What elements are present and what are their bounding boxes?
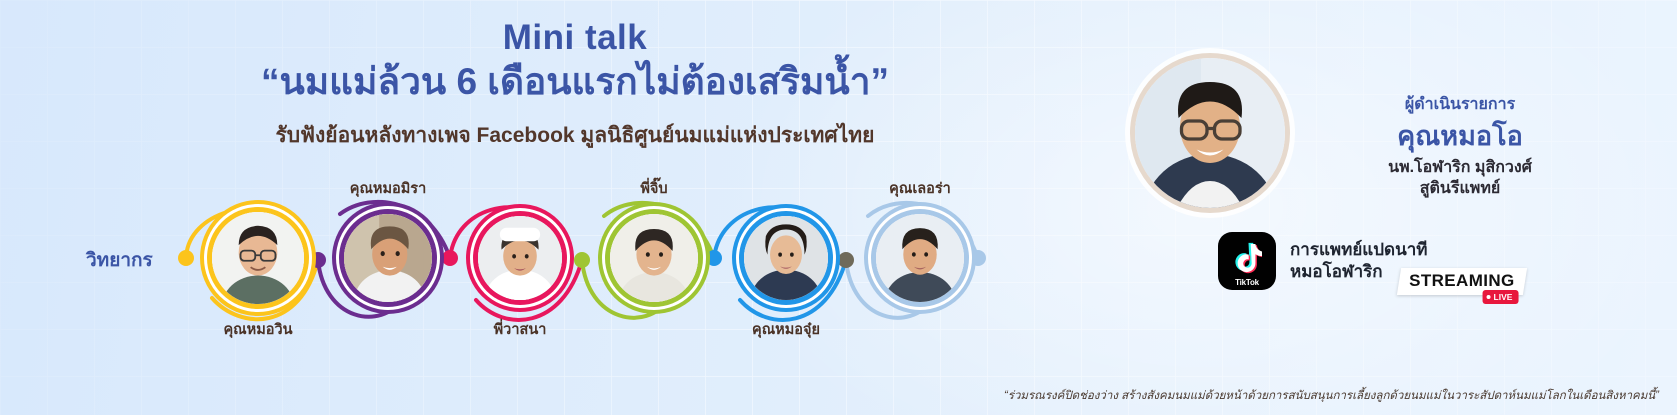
channel-block[interactable]: TikTok การแพทย์แปดนาที หมอโอฬาริก	[1218, 232, 1427, 290]
avatar-image-3	[478, 216, 562, 300]
header-eyebrow: Mini talk	[0, 18, 1150, 57]
host-photo-image	[1135, 58, 1285, 208]
avatar-image-5	[744, 216, 828, 300]
speaker-avatar-2[interactable]	[344, 214, 432, 302]
speakers-row: คุณหมอวิน คุณหมอมิรา	[0, 180, 1060, 345]
connector-dot	[574, 252, 590, 268]
speaker-name-2: คุณหมอมิรา	[308, 177, 468, 200]
streaming-badge: STREAMING LIVE	[1397, 268, 1527, 295]
connector-dot	[442, 250, 458, 266]
tiktok-icon[interactable]: TikTok	[1218, 232, 1276, 290]
header-block: Mini talk “นมแม่ล้วน 6 เดือนแรกไม่ต้องเส…	[0, 18, 1150, 152]
host-specialty: สูตินรีแพทย์	[1290, 179, 1630, 200]
host-info: ผู้ดำเนินรายการ คุณหมอโอ นพ.โอฬาริก มุสิ…	[1290, 92, 1630, 200]
host-full-name: นพ.โอฬาริก มุสิกวงศ์	[1290, 158, 1630, 179]
speaker-name-6: คุณเลอร่า	[840, 177, 1000, 200]
connector-dot	[970, 250, 986, 266]
speaker-avatar-1[interactable]	[212, 212, 304, 304]
host-role-label: ผู้ดำเนินรายการ	[1290, 92, 1630, 117]
tiktok-label: TikTok	[1218, 278, 1276, 287]
host-avatar[interactable]	[1135, 58, 1285, 208]
live-badge: LIVE	[1482, 290, 1518, 304]
channel-name-line1: การแพทย์แปดนาที	[1290, 239, 1427, 261]
connector-dot	[706, 250, 722, 266]
speakers-section-label: วิทยากร	[86, 245, 153, 275]
footer-tagline: “ร่วมรณรงค์ปิดช่องว่าง สร้างสังคมนมแม่ด้…	[1004, 387, 1659, 405]
speaker-name-3: พี่วาสนา	[440, 318, 600, 341]
speaker-name-4: พี่จิ๊บ	[574, 177, 734, 200]
avatar-image-2	[344, 214, 432, 302]
connector-dot	[178, 250, 194, 266]
connector-dot	[838, 252, 854, 268]
avatar-image-6	[876, 214, 964, 302]
speaker-avatar-3[interactable]	[478, 216, 562, 300]
speaker-name-5: คุณหมอจุ๋ย	[706, 318, 866, 341]
speaker-avatar-6[interactable]	[876, 214, 964, 302]
speaker-avatar-5[interactable]	[744, 216, 828, 300]
header-subtitle: รับฟังย้อนหลังทางเพจ Facebook มูลนิธิศูน…	[0, 119, 1150, 152]
page-title: “นมแม่ล้วน 6 เดือนแรกไม่ต้องเสริมน้ำ”	[0, 59, 1150, 105]
live-label: LIVE	[1493, 292, 1512, 302]
connector-dot	[310, 252, 326, 268]
host-nickname: คุณหมอโอ	[1290, 121, 1630, 152]
speaker-name-1: คุณหมอวิน	[178, 318, 338, 341]
speaker-avatar-4[interactable]	[610, 214, 698, 302]
avatar-image-4	[610, 214, 698, 302]
avatar-image-1	[212, 212, 304, 304]
streaming-label: STREAMING	[1409, 271, 1515, 291]
live-dot-icon	[1486, 295, 1490, 299]
